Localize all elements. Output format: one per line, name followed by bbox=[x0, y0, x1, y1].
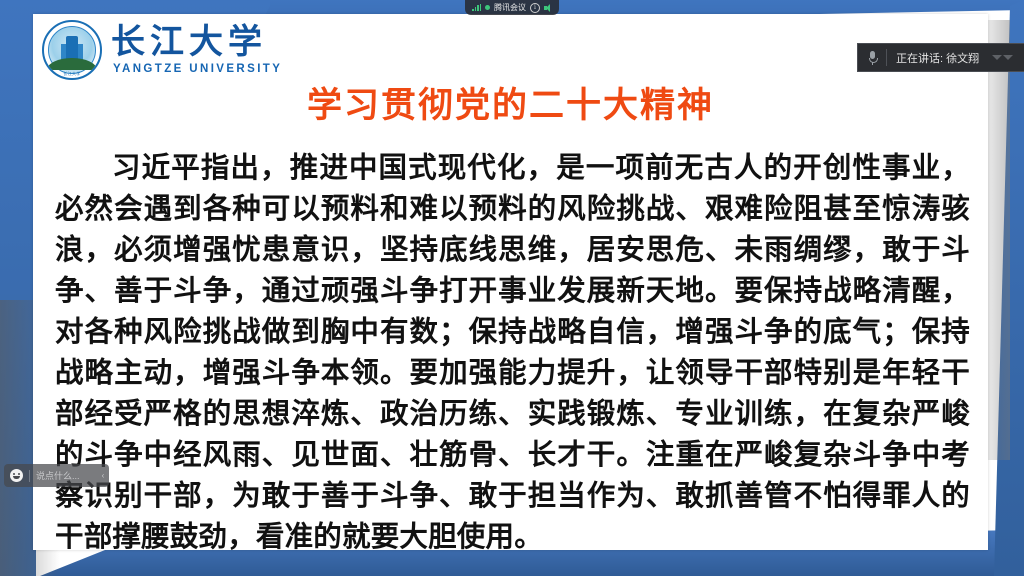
logo-name-english: YANGTZE UNIVERSITY bbox=[111, 64, 282, 76]
info-circle-icon[interactable]: i bbox=[530, 3, 540, 13]
slide-body-text: 习近平指出，推进中国式现代化，是一项前无古人的开创性事业，必然会遇到各种可以预料… bbox=[55, 147, 970, 557]
signal-bars-icon bbox=[472, 4, 481, 11]
green-status-dot-icon bbox=[485, 5, 490, 10]
microphone-icon[interactable] bbox=[858, 51, 886, 65]
screen-share-view: 长江大学 长江大学 YANGTZE UNIVERSITY 学习贯彻党的二十大精神… bbox=[0, 0, 1024, 576]
chat-input-bar[interactable]: 说点什么... ‹ bbox=[4, 464, 109, 487]
university-logo: 长江大学 长江大学 YANGTZE UNIVERSITY bbox=[42, 20, 282, 80]
double-chevron-up-icon[interactable] bbox=[980, 55, 1024, 60]
active-speaker-bar[interactable]: 正在讲话: 徐文翔; bbox=[857, 43, 1024, 72]
slide-title: 学习贯彻党的二十大精神 bbox=[33, 85, 988, 127]
meeting-app-name: 腾讯会议 bbox=[494, 4, 526, 12]
active-speaker-label: 正在讲话: 徐文翔; bbox=[887, 50, 980, 66]
logo-wordmark: 长江大学 YANGTZE UNIVERSITY bbox=[111, 25, 282, 76]
chat-message-input[interactable]: 说点什么... bbox=[30, 469, 97, 482]
university-seal-icon: 长江大学 bbox=[42, 20, 102, 80]
chevron-left-icon[interactable]: ‹ bbox=[97, 471, 109, 480]
seal-ring-label: 长江大学 bbox=[44, 71, 100, 77]
smiley-face-icon[interactable] bbox=[4, 469, 29, 482]
presentation-slide: 长江大学 长江大学 YANGTZE UNIVERSITY 学习贯彻党的二十大精神… bbox=[33, 14, 988, 550]
meeting-status-pill[interactable]: 腾讯会议 i bbox=[465, 0, 559, 15]
speaker-icon[interactable] bbox=[544, 4, 552, 12]
logo-name-chinese: 长江大学 bbox=[111, 25, 282, 59]
